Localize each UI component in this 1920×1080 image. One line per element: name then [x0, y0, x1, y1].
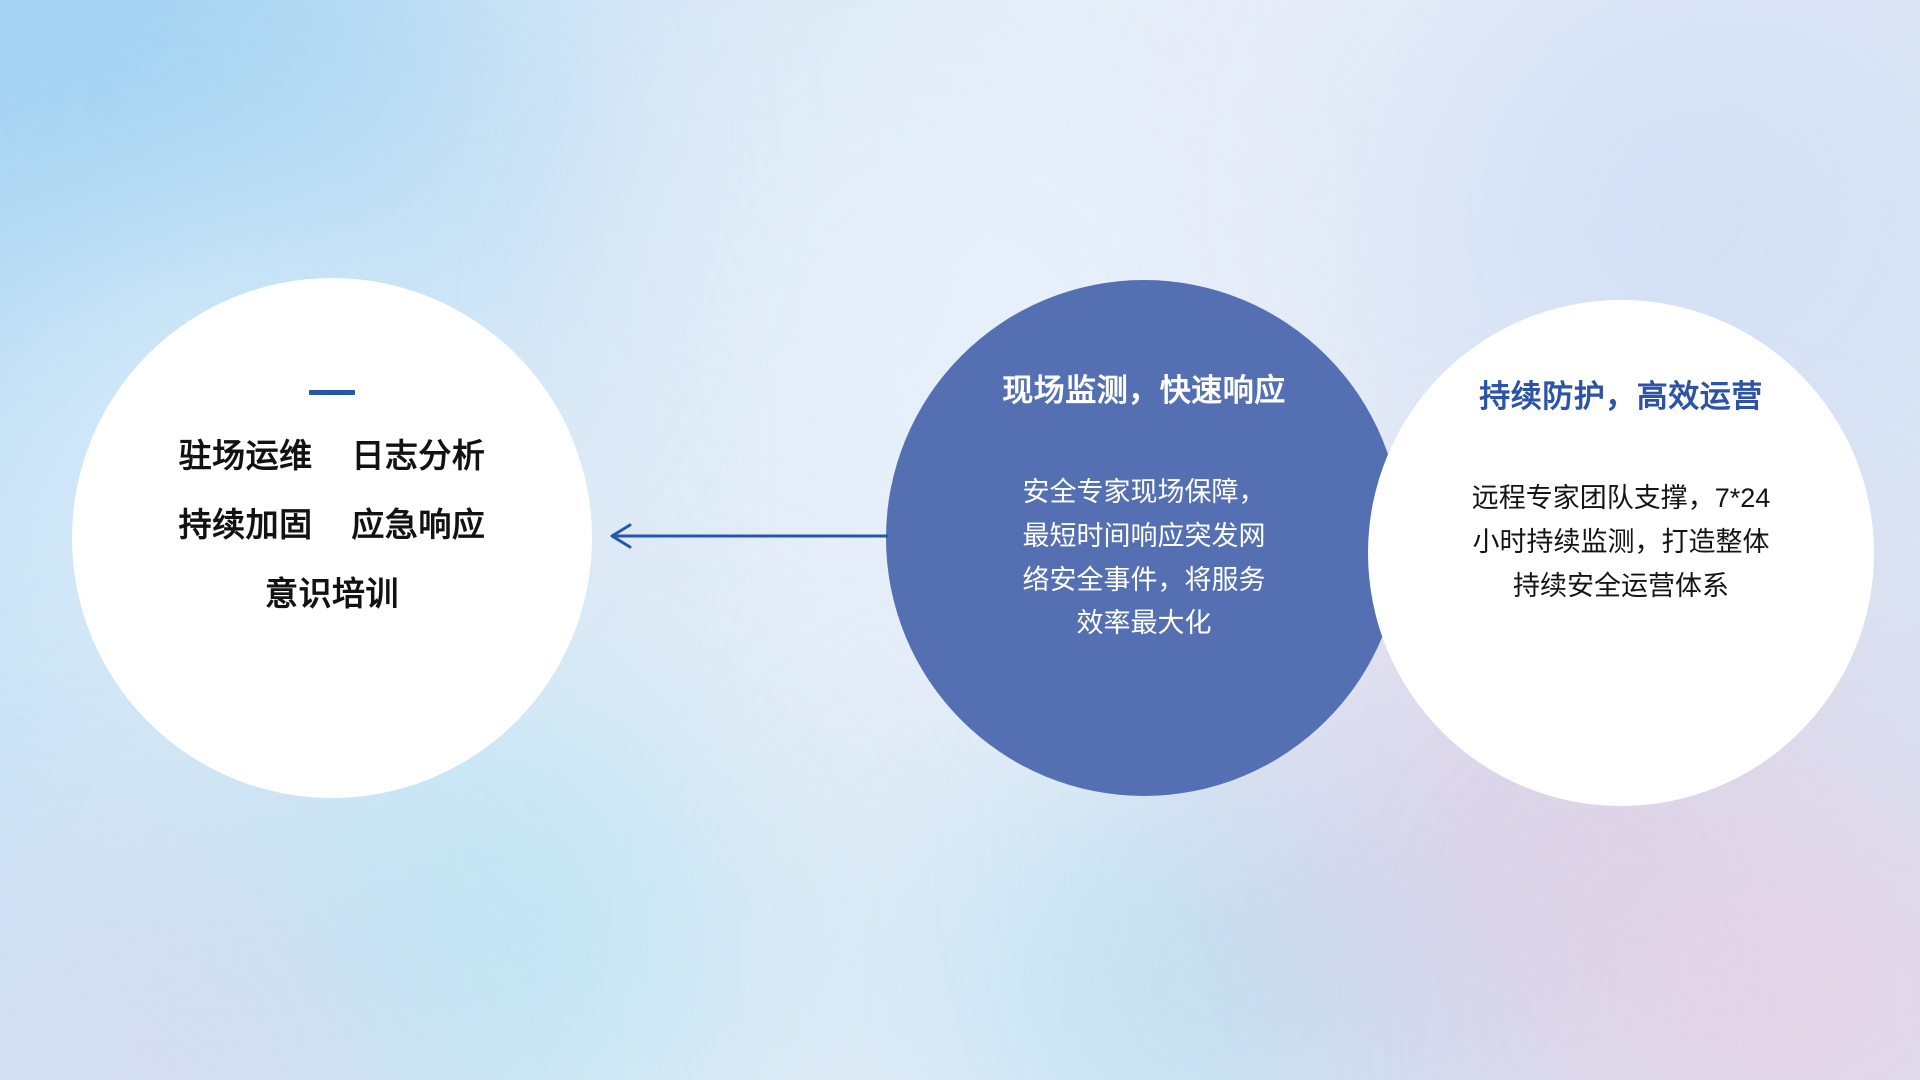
left-circle-line-2: 持续加固 应急响应: [106, 508, 558, 541]
center-circle-title: 现场监测，快速响应: [932, 372, 1356, 409]
center-body-line-3: 络安全事件，将服务: [932, 559, 1356, 603]
center-body-line-4: 效率最大化: [932, 602, 1356, 646]
right-circle-content: 持续防护，高效运营 远程专家团队支撑，7*24 小时持续监测，打造整体 持续安全…: [1368, 378, 1874, 608]
right-circle-title: 持续防护，高效运营: [1404, 378, 1838, 415]
slide-canvas: 驻场运维 日志分析 持续加固 应急响应 意识培训 现场监测，快速响应 安全专家现…: [0, 0, 1920, 1080]
right-circle-body: 远程专家团队支撑，7*24 小时持续监测，打造整体 持续安全运营体系: [1404, 477, 1838, 608]
center-circle-content: 现场监测，快速响应 安全专家现场保障， 最短时间响应突发网 络安全事件，将服务 …: [886, 372, 1402, 646]
right-body-line-2: 小时持续监测，打造整体: [1404, 521, 1838, 565]
flow-arrow-left-icon: [600, 516, 890, 556]
center-body-line-2: 最短时间响应突发网: [932, 515, 1356, 559]
capability-circle-right[interactable]: 持续防护，高效运营 远程专家团队支撑，7*24 小时持续监测，打造整体 持续安全…: [1368, 300, 1874, 806]
capability-circle-left[interactable]: 驻场运维 日志分析 持续加固 应急响应 意识培训: [72, 278, 592, 798]
right-body-line-1: 远程专家团队支撑，7*24: [1404, 477, 1838, 521]
divider-dash-icon: [309, 390, 355, 395]
capability-circle-center[interactable]: 现场监测，快速响应 安全专家现场保障， 最短时间响应突发网 络安全事件，将服务 …: [886, 280, 1402, 796]
center-circle-body: 安全专家现场保障， 最短时间响应突发网 络安全事件，将服务 效率最大化: [932, 471, 1356, 646]
left-circle-content: 驻场运维 日志分析 持续加固 应急响应 意识培训: [72, 390, 592, 610]
left-circle-line-1: 驻场运维 日志分析: [106, 439, 558, 472]
center-body-line-1: 安全专家现场保障，: [932, 471, 1356, 515]
left-circle-line-3: 意识培训: [106, 577, 558, 610]
right-body-line-3: 持续安全运营体系: [1404, 565, 1838, 609]
